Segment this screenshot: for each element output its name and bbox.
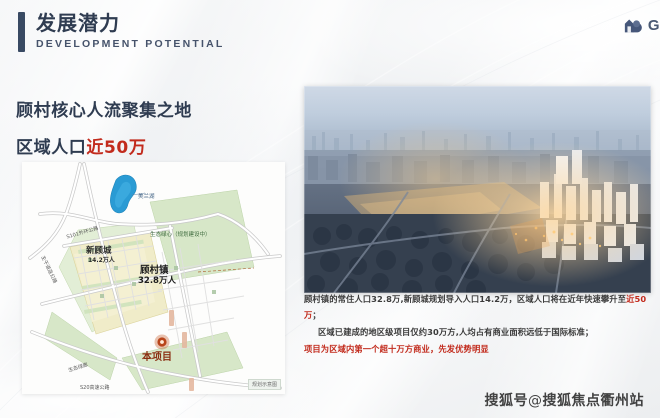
body-paragraph-1-end: ； <box>312 310 320 320</box>
logo-wordmark: G <box>648 17 660 34</box>
aerial-photo-graphic <box>304 86 651 293</box>
headline-secondary-prefix: 区域人口 <box>16 138 86 158</box>
house-group-logo-icon <box>623 16 644 35</box>
header-accent-bar <box>18 12 25 52</box>
page-subtitle: DEVELOPMENT POTENTIAL <box>36 38 225 50</box>
slide-root: 发展潜力 DEVELOPMENT POTENTIAL G 顾村核心人流聚集之地 … <box>0 0 660 418</box>
headline-secondary-highlight: 近50万 <box>86 138 146 158</box>
headline-secondary: 区域人口近50万 <box>16 133 146 158</box>
map-legend: 规划示意图 <box>248 379 281 390</box>
map-label-lake: 美兰湖 <box>138 192 155 200</box>
map-label-project: 本项目 <box>142 348 172 363</box>
slide-header: 发展潜力 DEVELOPMENT POTENTIAL <box>18 12 225 52</box>
body-paragraph-1-text: 顾村镇的常住人口32.8万,新顾城规划导入人口14.2万，区域人口将在近年快速攀… <box>304 294 626 304</box>
watermark-prefix: 搜狐号 <box>485 393 529 409</box>
watermark-at-symbol: @ <box>528 393 543 409</box>
body-paragraph-2: 区域已建成的地区级项目仅约30万方,人均占有商业面积远低于国际标准； <box>304 325 652 341</box>
watermark-suffix: 搜狐焦点衢州站 <box>543 393 645 409</box>
brand-logo: G <box>623 16 660 35</box>
district-map[interactable]: 美兰湖 生态绿心（规划建设中） 新顾城 14.2万人 顾村镇 32.8万人 本项… <box>22 162 285 394</box>
body-paragraph-1: 顾村镇的常住人口32.8万,新顾城规划导入人口14.2万，区域人口将在近年快速攀… <box>304 292 652 323</box>
body-paragraph-3: 项目为区域内第一个超十万方商业，先发优势明显 <box>304 342 652 358</box>
watermark: 搜狐号@搜狐焦点衢州站 <box>485 390 645 410</box>
headline-primary: 顾村核心人流聚集之地 <box>16 96 192 121</box>
body-text-block: 顾村镇的常住人口32.8万,新顾城规划导入人口14.2万，区域人口将在近年快速攀… <box>304 292 652 357</box>
aerial-photo <box>304 86 651 293</box>
map-label-town-population: 32.8万人 <box>138 274 176 286</box>
map-label-new-city-population: 14.2万人 <box>88 255 115 264</box>
page-title: 发展潜力 <box>36 12 225 34</box>
map-label-green-area: 生态绿心（规划建设中） <box>150 230 211 238</box>
map-label-road-4: S20高速公路 <box>80 384 110 391</box>
